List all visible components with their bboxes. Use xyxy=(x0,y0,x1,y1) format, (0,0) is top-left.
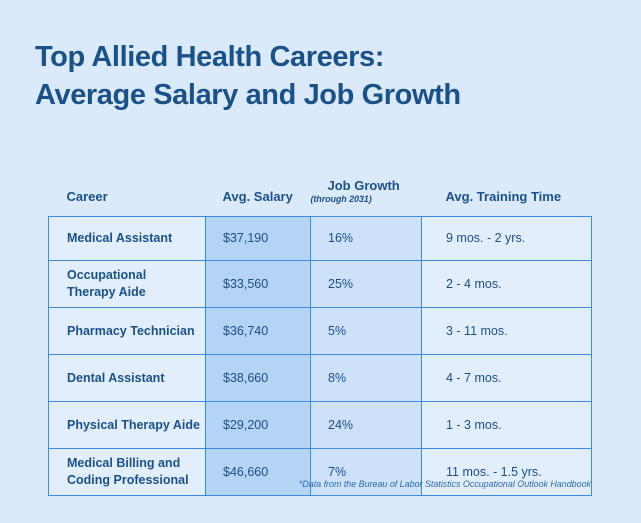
cell-career: Occupational Therapy Aide xyxy=(49,261,206,308)
cell-training: 9 mos. - 2 yrs. xyxy=(422,217,592,261)
table-body: Medical Assistant $37,190 16% 9 mos. - 2… xyxy=(49,217,592,496)
table-row: Physical Therapy Aide $29,200 24% 1 - 3 … xyxy=(49,402,592,449)
cell-training: 1 - 3 mos. xyxy=(422,402,592,449)
page-title: Top Allied Health Careers: Average Salar… xyxy=(35,38,605,115)
careers-table-container: Career Avg. Salary Job Growth (through 2… xyxy=(48,158,591,496)
column-header-training: Avg. Training Time xyxy=(422,158,592,217)
cell-growth: 8% xyxy=(311,355,422,402)
column-header-growth-label: Job Growth xyxy=(328,178,400,193)
career-name-line-1: Medical Assistant xyxy=(67,230,204,247)
column-header-career: Career xyxy=(49,158,206,217)
cell-salary: $38,660 xyxy=(206,355,311,402)
data-source-footnote: *Data from the Bureau of Labor Statistic… xyxy=(48,479,591,489)
career-name-line-1: Medical Billing and xyxy=(67,455,204,472)
table-row: Medical Assistant $37,190 16% 9 mos. - 2… xyxy=(49,217,592,261)
cell-growth: 25% xyxy=(311,261,422,308)
column-header-salary-label: Avg. Salary xyxy=(206,189,293,204)
cell-growth: 16% xyxy=(311,217,422,261)
cell-salary: $29,200 xyxy=(206,402,311,449)
page-title-line-1: Top Allied Health Careers: xyxy=(35,38,605,76)
cell-training: 4 - 7 mos. xyxy=(422,355,592,402)
careers-table: Career Avg. Salary Job Growth (through 2… xyxy=(48,158,592,496)
cell-training: 3 - 11 mos. xyxy=(422,308,592,355)
career-name-line-1: Occupational xyxy=(67,267,204,284)
column-header-growth: Job Growth (through 2031) xyxy=(311,158,422,217)
table-row: Dental Assistant $38,660 8% 4 - 7 mos. xyxy=(49,355,592,402)
column-header-salary: Avg. Salary xyxy=(206,158,311,217)
table-row: Occupational Therapy Aide $33,560 25% 2 … xyxy=(49,261,592,308)
table-row: Pharmacy Technician $36,740 5% 3 - 11 mo… xyxy=(49,308,592,355)
page-title-line-2: Average Salary and Job Growth xyxy=(35,76,605,114)
cell-career: Physical Therapy Aide xyxy=(49,402,206,449)
column-header-training-label: Avg. Training Time xyxy=(422,189,562,204)
cell-career: Dental Assistant xyxy=(49,355,206,402)
cell-growth: 5% xyxy=(311,308,422,355)
cell-career: Medical Assistant xyxy=(49,217,206,261)
column-header-growth-sublabel: (through 2031) xyxy=(311,194,422,204)
cell-salary: $33,560 xyxy=(206,261,311,308)
column-header-career-label: Career xyxy=(49,189,108,204)
cell-salary: $37,190 xyxy=(206,217,311,261)
cell-career: Pharmacy Technician xyxy=(49,308,206,355)
table-header: Career Avg. Salary Job Growth (through 2… xyxy=(49,158,592,217)
cell-growth: 24% xyxy=(311,402,422,449)
cell-training: 2 - 4 mos. xyxy=(422,261,592,308)
cell-salary: $36,740 xyxy=(206,308,311,355)
career-name-line-1: Dental Assistant xyxy=(67,370,204,387)
career-name-line-2: Therapy Aide xyxy=(67,284,204,301)
career-name-line-1: Pharmacy Technician xyxy=(67,323,204,340)
career-name-line-1: Physical Therapy Aide xyxy=(67,417,204,434)
table-header-row: Career Avg. Salary Job Growth (through 2… xyxy=(49,158,592,217)
